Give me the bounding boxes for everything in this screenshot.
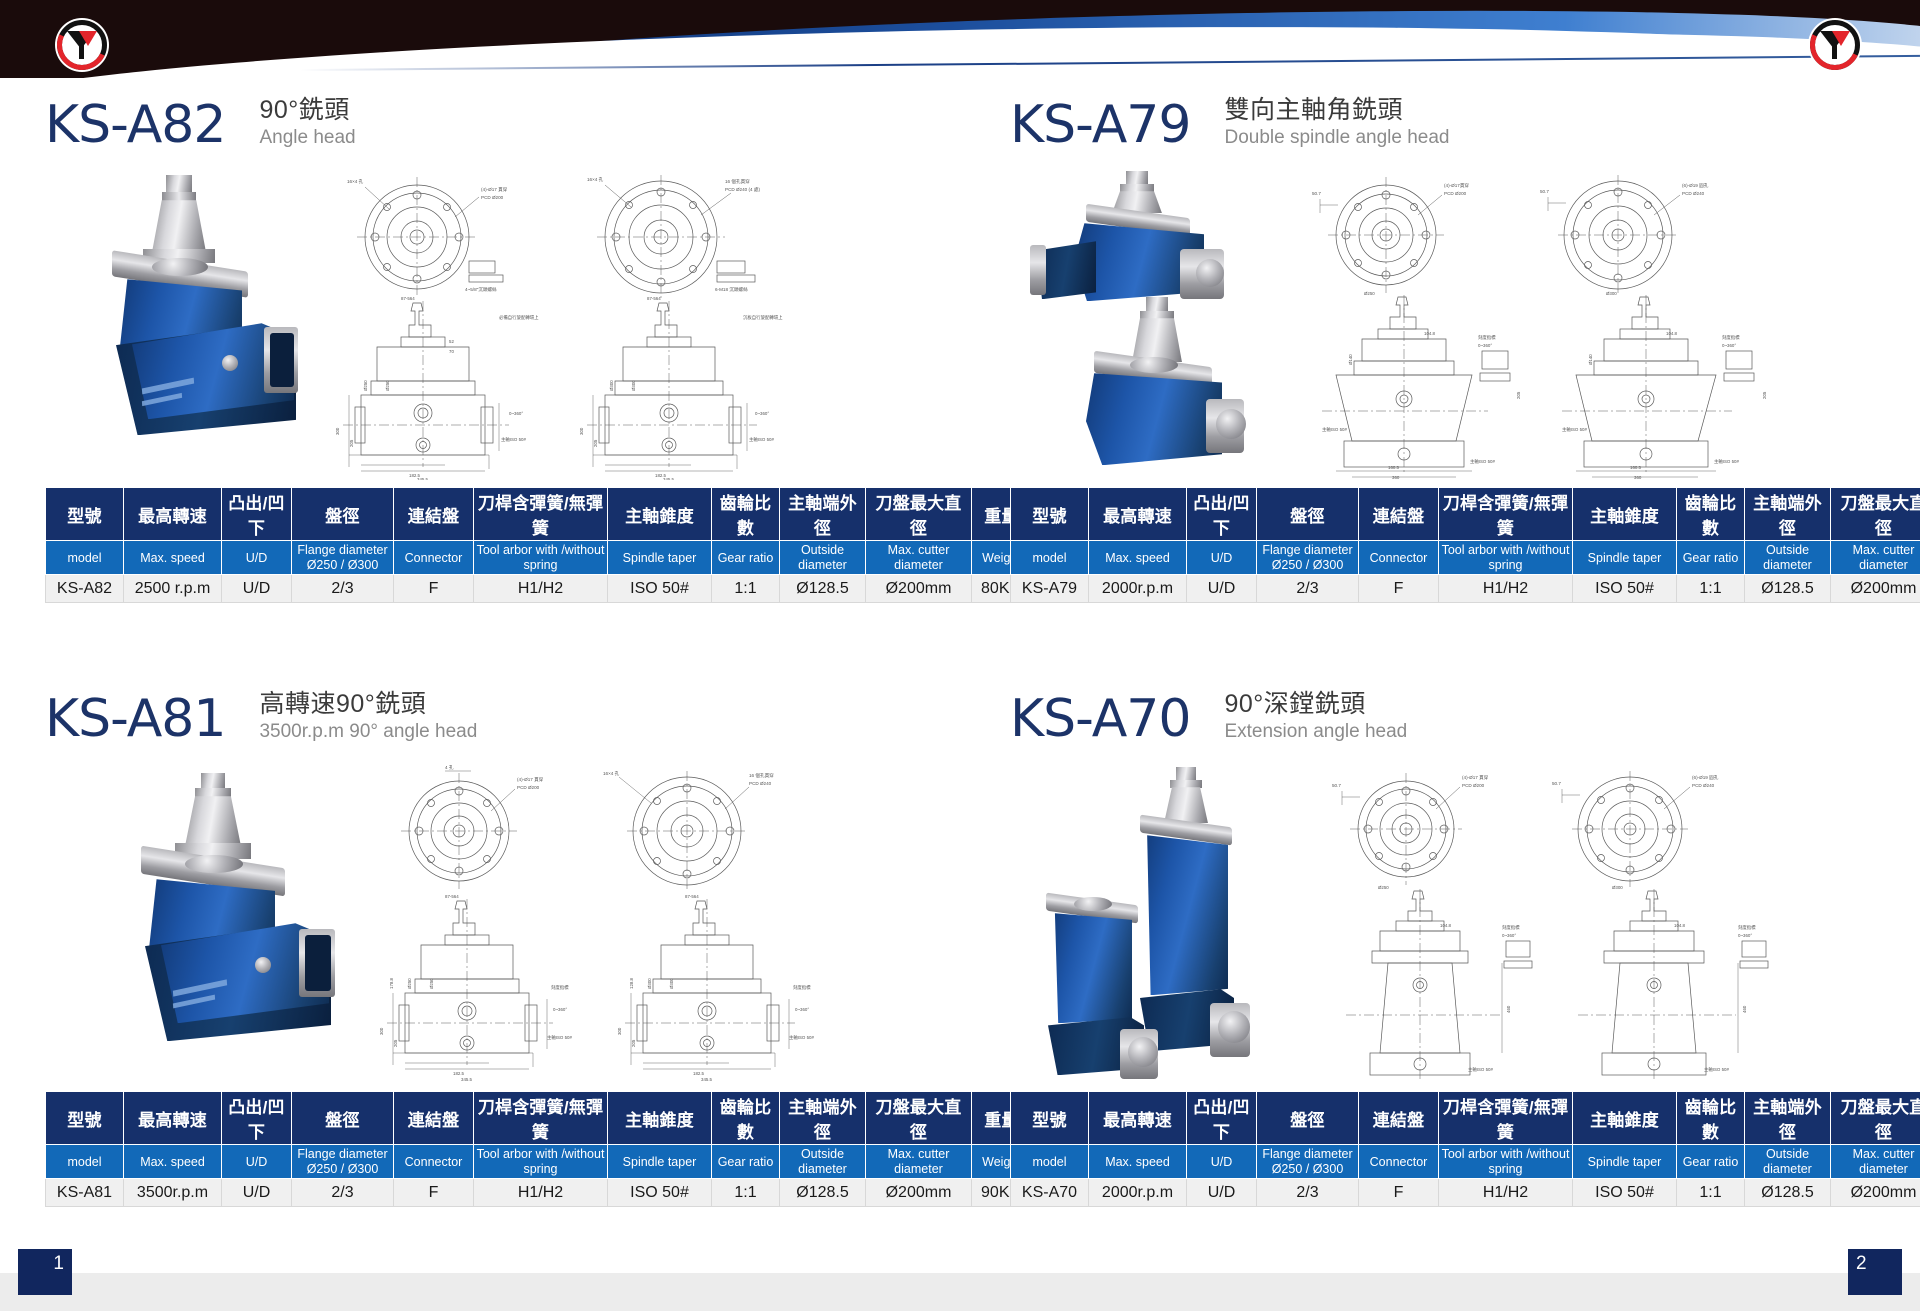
- th-en-max-cutter: Max. cutter diameter: [1831, 541, 1920, 575]
- svg-text:PCD Ø240: PCD Ø240: [749, 781, 772, 786]
- svg-text:50.7: 50.7: [1540, 189, 1549, 194]
- cell-connector: F: [394, 1179, 474, 1207]
- svg-text:205: 205: [349, 439, 354, 447]
- th-en-ud: U/D: [222, 1145, 292, 1179]
- svg-text:205: 205: [593, 439, 598, 447]
- page-footer: 1 2: [0, 1253, 1920, 1311]
- svg-text:182.5: 182.5: [693, 1071, 705, 1076]
- svg-text:沉板自行旋配轉環上: 沉板自行旋配轉環上: [743, 314, 783, 321]
- company-logo-right: [1808, 18, 1862, 72]
- product-name: 高轉速90°銑頭 3500r.p.m 90° angle head: [259, 690, 477, 745]
- svg-text:50.7: 50.7: [1332, 783, 1341, 788]
- svg-text:205: 205: [1762, 391, 1767, 399]
- th-cn-flange: 盤徑: [292, 488, 394, 541]
- product-title-row: KS-A79 雙向主軸角銑頭 Double spindle angle head: [1010, 96, 1910, 151]
- svg-text:460: 460: [1742, 1005, 1747, 1013]
- th-en-tool-arbor: Tool arbor with /without spring: [474, 1145, 608, 1179]
- spec-table-ks-a81: 型號 最高轉速 凸出/凹下 盤徑 連結盤 刀桿含彈簧/無彈簧 主軸錐度 齒輪比數…: [45, 1091, 1032, 1207]
- cell-max-cutter: Ø200mm: [866, 1179, 972, 1207]
- page-number-left: 1: [18, 1249, 72, 1295]
- svg-text:刻度指標: 刻度指標: [793, 984, 811, 991]
- drawing-side-view-right: Ø300 104.8 460 0~360° 主軸ISO 50# 刻度指標: [1540, 885, 1790, 1081]
- th-en-spindle-taper: Spindle taper: [608, 1145, 712, 1179]
- th-cn-max-cutter: 刀盤最大直徑: [1831, 488, 1920, 541]
- svg-text:300: 300: [379, 1027, 384, 1035]
- th-cn-max-speed: 最高轉速: [1089, 488, 1187, 541]
- svg-text:0~360°: 0~360°: [795, 1007, 809, 1012]
- th-cn-tool-arbor: 刀桿含彈簧/無彈簧: [1439, 1092, 1573, 1145]
- th-cn-max-cutter: 刀盤最大直徑: [866, 1092, 972, 1145]
- svg-text:(4)-Ø17 貫穿: (4)-Ø17 貫穿: [517, 776, 544, 783]
- product-photo: [1020, 171, 1280, 481]
- th-cn-outside-diameter: 主軸端外徑: [780, 1092, 866, 1145]
- svg-text:PCD Ø240: PCD Ø240: [1682, 191, 1705, 196]
- logo-stem-icon: [1832, 42, 1837, 59]
- page-number-right: 2: [1848, 1249, 1902, 1295]
- cell-model: KS-A81: [46, 1179, 124, 1207]
- cell-tool-arbor: H1/H2: [1439, 575, 1573, 603]
- th-cn-ud: 凸出/凹下: [1187, 1092, 1257, 1145]
- svg-text:104.8: 104.8: [1440, 923, 1452, 928]
- drawing-side-view-right: 87-564 Ø300 Ø300 128.8 300 205 182.5 345…: [593, 893, 843, 1083]
- cell-model: KS-A79: [1011, 575, 1089, 603]
- cell-flange: 2/3: [1257, 575, 1359, 603]
- product-media: 4 孔 (4)-Ø17 貫穿 PCD Ø200: [45, 759, 945, 1089]
- th-cn-max-speed: 最高轉速: [1089, 1092, 1187, 1145]
- product-name-cn: 雙向主軸角銑頭: [1224, 96, 1449, 126]
- th-cn-tool-arbor: 刀桿含彈簧/無彈簧: [1439, 488, 1573, 541]
- cell-outside-diameter: Ø128.5: [1745, 575, 1831, 603]
- product-block-ks-a81: KS-A81 高轉速90°銑頭 3500r.p.m 90° angle head: [45, 690, 945, 1207]
- drawing-side-view-left: 87-564 Ø250 Ø250 178.8 300 205 182.5 345…: [357, 893, 602, 1083]
- svg-text:178.8: 178.8: [389, 978, 394, 990]
- svg-text:300: 300: [335, 427, 340, 435]
- svg-text:必備自行旋配轉環上: 必備自行旋配轉環上: [499, 314, 539, 321]
- th-en-connector: Connector: [1359, 541, 1439, 575]
- product-photo: [1024, 767, 1274, 1085]
- cell-outside-diameter: Ø128.5: [1745, 1179, 1831, 1207]
- th-en-flange: Flange diameter Ø250 / Ø300: [292, 541, 394, 575]
- product-media: 16×4 孔 (4)-Ø17 貫穿 PCD Ø200 4~5/8"沉頭螺絲: [45, 165, 945, 483]
- svg-text:160.5: 160.5: [1388, 465, 1400, 470]
- th-en-flange: Flange diameter Ø250 / Ø300: [1257, 1145, 1359, 1179]
- svg-text:0~360°: 0~360°: [755, 411, 769, 416]
- th-cn-gear-ratio: 齒輪比數: [712, 1092, 780, 1145]
- svg-text:Ø250: Ø250: [407, 978, 412, 989]
- th-en-connector: Connector: [394, 1145, 474, 1179]
- product-photo: [105, 773, 345, 1085]
- th-en-ud: U/D: [1187, 541, 1257, 575]
- table-header-en-row: model Max. speed U/D Flange diameter Ø25…: [1011, 541, 1920, 575]
- svg-text:Ø300: Ø300: [609, 380, 614, 391]
- cell-ud: U/D: [222, 575, 292, 603]
- svg-text:Ø140: Ø140: [1588, 354, 1593, 365]
- svg-text:PCD Ø240 (4 處): PCD Ø240 (4 處): [725, 186, 760, 193]
- cell-gear-ratio: 1:1: [712, 575, 780, 603]
- svg-text:Ø140: Ø140: [1348, 354, 1353, 365]
- th-en-gear-ratio: Gear ratio: [1677, 541, 1745, 575]
- th-cn-flange: 盤徑: [1257, 1092, 1359, 1145]
- drawing-top-view-right: (6)-Ø19 圓孔 PCD Ø240 50.7: [1542, 763, 1767, 893]
- svg-text:主軸ISO 50#: 主軸ISO 50#: [547, 1034, 572, 1041]
- th-cn-connector: 連結盤: [1359, 1092, 1439, 1145]
- drawing-top-view-left: 4 孔 (4)-Ø17 貫穿 PCD Ø200: [375, 763, 590, 895]
- svg-text:Ø250: Ø250: [1364, 291, 1375, 296]
- th-cn-model: 型號: [46, 1092, 124, 1145]
- svg-text:70: 70: [449, 349, 454, 354]
- svg-text:50.7: 50.7: [1312, 191, 1321, 196]
- cell-tool-arbor: H1/H2: [1439, 1179, 1573, 1207]
- svg-text:345.5: 345.5: [663, 477, 675, 480]
- svg-text:0~360°: 0~360°: [553, 1007, 567, 1012]
- th-en-gear-ratio: Gear ratio: [1677, 1145, 1745, 1179]
- svg-text:345.5: 345.5: [461, 1077, 473, 1082]
- product-title-row: KS-A82 90°銑頭 Angle head: [45, 96, 945, 151]
- cell-ud: U/D: [1187, 575, 1257, 603]
- product-media: (4)-Ø17 貫穿 PCD Ø200 50.7: [1010, 759, 1910, 1089]
- svg-text:0~360°: 0~360°: [1478, 343, 1492, 348]
- svg-text:主軸ISO 50#: 主軸ISO 50#: [501, 436, 526, 443]
- svg-text:300: 300: [617, 1027, 622, 1035]
- th-cn-spindle-taper: 主軸錐度: [608, 488, 712, 541]
- svg-text:主軸ISO 50#: 主軸ISO 50#: [1704, 1066, 1729, 1073]
- product-name-en: 3500r.p.m 90° angle head: [259, 721, 477, 744]
- svg-text:Ø300: Ø300: [669, 978, 674, 989]
- svg-text:Ø250: Ø250: [385, 380, 390, 391]
- th-en-max-speed: Max. speed: [124, 541, 222, 575]
- svg-text:Ø300: Ø300: [1612, 885, 1623, 890]
- th-en-model: model: [1011, 1145, 1089, 1179]
- cell-tool-arbor: H1/H2: [474, 575, 608, 603]
- drawing-top-view-right: 16×4 孔 16 個孔貫穿 PCD Ø240: [597, 763, 822, 895]
- product-title-row: KS-A70 90°深鏜銑頭 Extension angle head: [1010, 690, 1910, 745]
- product-title-row: KS-A81 高轉速90°銑頭 3500r.p.m 90° angle head: [45, 690, 945, 745]
- table-row: KS-A82 2500 r.p.m U/D 2/3 F H1/H2 ISO 50…: [46, 575, 1032, 603]
- svg-text:87-564: 87-564: [685, 894, 699, 899]
- svg-text:主軸ISO 50#: 主軸ISO 50#: [1470, 458, 1495, 465]
- cell-spindle-taper: ISO 50#: [1573, 575, 1677, 603]
- th-cn-spindle-taper: 主軸錐度: [608, 1092, 712, 1145]
- svg-text:50.7: 50.7: [1552, 781, 1561, 786]
- table-header-cn-row: 型號 最高轉速 凸出/凹下 盤徑 連結盤 刀桿含彈簧/無彈簧 主軸錐度 齒輪比數…: [46, 488, 1032, 541]
- th-en-outside-diameter: Outside diameter: [1745, 541, 1831, 575]
- svg-text:(6)-Ø19 圓孔: (6)-Ø19 圓孔: [1692, 774, 1719, 781]
- cell-flange: 2/3: [292, 575, 394, 603]
- svg-text:104.8: 104.8: [1674, 923, 1686, 928]
- th-cn-gear-ratio: 齒輪比數: [1677, 488, 1745, 541]
- svg-text:205: 205: [1516, 391, 1521, 399]
- svg-text:Ø300: Ø300: [631, 380, 636, 391]
- svg-text:PCD Ø240: PCD Ø240: [1692, 783, 1715, 788]
- cell-connector: F: [1359, 575, 1439, 603]
- cell-outside-diameter: Ø128.5: [780, 1179, 866, 1207]
- cell-spindle-taper: ISO 50#: [608, 575, 712, 603]
- svg-text:104.8: 104.8: [1666, 331, 1678, 336]
- svg-text:主軸ISO 50#: 主軸ISO 50#: [1562, 426, 1587, 433]
- svg-text:128.8: 128.8: [629, 978, 634, 990]
- svg-text:16×4 孔: 16×4 孔: [347, 178, 364, 185]
- th-cn-model: 型號: [1011, 488, 1089, 541]
- svg-text:205: 205: [631, 1039, 636, 1047]
- th-en-flange: Flange diameter Ø250 / Ø300: [1257, 541, 1359, 575]
- table-header-en-row: model Max. speed U/D Flange diameter Ø25…: [1011, 1145, 1920, 1179]
- svg-text:4 孔: 4 孔: [445, 764, 454, 771]
- logo-stem-icon: [79, 42, 84, 59]
- th-en-outside-diameter: Outside diameter: [780, 541, 866, 575]
- product-code: KS-A70: [1010, 693, 1190, 745]
- page-header: [0, 0, 1920, 78]
- svg-text:(4)-Ø17 貫穿: (4)-Ø17 貫穿: [1462, 774, 1489, 781]
- th-cn-model: 型號: [46, 488, 124, 541]
- th-en-connector: Connector: [394, 541, 474, 575]
- th-en-outside-diameter: Outside diameter: [1745, 1145, 1831, 1179]
- drawing-top-view-left: 16×4 孔 (4)-Ø17 貫穿 PCD Ø200 4~5/8"沉頭螺絲: [329, 169, 554, 299]
- th-cn-gear-ratio: 齒輪比數: [1677, 1092, 1745, 1145]
- svg-text:PCD Ø200: PCD Ø200: [1444, 191, 1467, 196]
- svg-text:360: 360: [1634, 475, 1642, 480]
- svg-text:刻度指標: 刻度指標: [1478, 334, 1496, 341]
- table-row: KS-A79 2000r.p.m U/D 2/3 F H1/H2 ISO 50#…: [1011, 575, 1920, 603]
- product-block-ks-a82: KS-A82 90°銑頭 Angle head: [45, 96, 945, 603]
- th-cn-ud: 凸出/凹下: [222, 1092, 292, 1145]
- svg-text:205: 205: [393, 1039, 398, 1047]
- svg-text:刻度指標: 刻度指標: [1502, 924, 1520, 931]
- svg-text:16 個孔貫穿: 16 個孔貫穿: [749, 772, 774, 779]
- svg-text:刻度指標: 刻度指標: [1722, 334, 1740, 341]
- th-cn-spindle-taper: 主軸錐度: [1573, 1092, 1677, 1145]
- product-name: 90°銑頭 Angle head: [259, 96, 355, 151]
- svg-text:主軸ISO 50#: 主軸ISO 50#: [789, 1034, 814, 1041]
- spec-table-ks-a82: 型號 最高轉速 凸出/凹下 盤徑 連結盤 刀桿含彈簧/無彈簧 主軸錐度 齒輪比數…: [45, 487, 1032, 603]
- spec-table-ks-a70: 型號 最高轉速 凸出/凹下 盤徑 連結盤 刀桿含彈簧/無彈簧 主軸錐度 齒輪比數…: [1010, 1091, 1920, 1207]
- th-cn-max-cutter: 刀盤最大直徑: [866, 488, 972, 541]
- cell-max-cutter: Ø200mm: [1831, 575, 1920, 603]
- th-cn-connector: 連結盤: [394, 1092, 474, 1145]
- cell-spindle-taper: ISO 50#: [608, 1179, 712, 1207]
- cell-gear-ratio: 1:1: [712, 1179, 780, 1207]
- th-en-tool-arbor: Tool arbor with /without spring: [1439, 541, 1573, 575]
- th-cn-tool-arbor: 刀桿含彈簧/無彈簧: [474, 488, 608, 541]
- th-en-gear-ratio: Gear ratio: [712, 1145, 780, 1179]
- cell-gear-ratio: 1:1: [1677, 1179, 1745, 1207]
- th-en-spindle-taper: Spindle taper: [1573, 1145, 1677, 1179]
- th-en-max-speed: Max. speed: [124, 1145, 222, 1179]
- drawing-side-view-right: 87-564 Ø300 Ø300 300 205 182.5 345.5 0~3…: [555, 295, 805, 480]
- th-cn-max-speed: 最高轉速: [124, 488, 222, 541]
- th-cn-outside-diameter: 主軸端外徑: [780, 488, 866, 541]
- th-cn-flange: 盤徑: [292, 1092, 394, 1145]
- th-en-spindle-taper: Spindle taper: [608, 541, 712, 575]
- svg-text:0~360°: 0~360°: [1738, 933, 1752, 938]
- th-en-ud: U/D: [1187, 1145, 1257, 1179]
- svg-text:360: 360: [1392, 475, 1400, 480]
- th-en-outside-diameter: Outside diameter: [780, 1145, 866, 1179]
- drawing-top-view-right: (6)-Ø19 圓孔 PCD Ø240 50.7: [1530, 169, 1755, 295]
- th-cn-tool-arbor: 刀桿含彈簧/無彈簧: [474, 1092, 608, 1145]
- cell-tool-arbor: H1/H2: [474, 1179, 608, 1207]
- product-block-ks-a79: KS-A79 雙向主軸角銑頭 Double spindle angle head: [1010, 96, 1910, 603]
- th-cn-spindle-taper: 主軸錐度: [1573, 488, 1677, 541]
- cell-outside-diameter: Ø128.5: [780, 575, 866, 603]
- svg-text:345.5: 345.5: [417, 477, 429, 480]
- th-en-connector: Connector: [1359, 1145, 1439, 1179]
- product-name: 90°深鏜銑頭 Extension angle head: [1224, 690, 1407, 745]
- svg-text:Ø300: Ø300: [1606, 291, 1617, 296]
- svg-text:(6)-Ø19 圓孔: (6)-Ø19 圓孔: [1682, 182, 1709, 189]
- th-en-tool-arbor: Tool arbor with /without spring: [474, 541, 608, 575]
- svg-text:4~5/8"沉頭螺絲: 4~5/8"沉頭螺絲: [465, 286, 497, 293]
- svg-text:300: 300: [579, 427, 584, 435]
- svg-text:87-564: 87-564: [445, 894, 459, 899]
- cell-model: KS-A82: [46, 575, 124, 603]
- th-cn-connector: 連結盤: [394, 488, 474, 541]
- drawing-side-view-left: Ø250 104.8 460 0~360° 主軸ISO 50# 刻度指標: [1310, 885, 1555, 1081]
- svg-text:(4)-Ø17貫穿: (4)-Ø17貫穿: [1444, 182, 1469, 189]
- table-header-en-row: model Max. speed U/D Flange diameter Ø25…: [46, 541, 1032, 575]
- cell-max-speed: 3500r.p.m: [124, 1179, 222, 1207]
- table-header-cn-row: 型號 最高轉速 凸出/凹下 盤徑 連結盤 刀桿含彈簧/無彈簧 主軸錐度 齒輪比數…: [1011, 1092, 1920, 1145]
- product-name-en: Extension angle head: [1224, 721, 1407, 744]
- product-name-cn: 高轉速90°銑頭: [259, 690, 477, 720]
- drawing-top-view-left: (4)-Ø17 貫穿 PCD Ø200 50.7: [1322, 763, 1537, 893]
- th-cn-ud: 凸出/凹下: [1187, 488, 1257, 541]
- cell-flange: 2/3: [292, 1179, 394, 1207]
- svg-text:(4)-Ø17 貫穿: (4)-Ø17 貫穿: [481, 186, 508, 193]
- th-en-model: model: [46, 541, 124, 575]
- th-en-max-cutter: Max. cutter diameter: [866, 1145, 972, 1179]
- th-en-max-speed: Max. speed: [1089, 1145, 1187, 1179]
- cell-ud: U/D: [222, 1179, 292, 1207]
- drawing-top-view-right: 16×4 孔 16 個孔貫穿 PCD Ø240 (4 處) 6-M18 沉頭螺絲: [565, 169, 800, 299]
- th-cn-outside-diameter: 主軸端外徑: [1745, 488, 1831, 541]
- product-photo: [80, 175, 310, 475]
- th-en-max-cutter: Max. cutter diameter: [866, 541, 972, 575]
- th-cn-outside-diameter: 主軸端外徑: [1745, 1092, 1831, 1145]
- svg-text:16×4 孔: 16×4 孔: [603, 770, 620, 777]
- th-cn-gear-ratio: 齒輪比數: [712, 488, 780, 541]
- th-cn-model: 型號: [1011, 1092, 1089, 1145]
- product-name-en: Double spindle angle head: [1224, 127, 1449, 150]
- svg-text:主軸ISO 50#: 主軸ISO 50#: [1468, 1066, 1493, 1073]
- footer-bar: [0, 1273, 1920, 1311]
- svg-text:Ø250: Ø250: [363, 380, 368, 391]
- drawing-side-view-left: 87-564 52 70 Ø250 Ø250 300 205 182.5 345…: [313, 295, 563, 480]
- svg-text:160.5: 160.5: [1630, 465, 1642, 470]
- table-row: KS-A70 2000r.p.m U/D 2/3 F H1/H2 ISO 50#…: [1011, 1179, 1920, 1207]
- th-cn-flange: 盤徑: [1257, 488, 1359, 541]
- svg-text:Ø300: Ø300: [647, 978, 652, 989]
- cell-max-speed: 2000r.p.m: [1089, 1179, 1187, 1207]
- svg-text:刻度指標: 刻度指標: [1738, 924, 1756, 931]
- drawing-side-view-left: Ø250 104.8 Ø140 205 360 160.5 0~360° 主軸I…: [1292, 291, 1532, 481]
- svg-text:主軸ISO 50#: 主軸ISO 50#: [1322, 426, 1347, 433]
- table-header-cn-row: 型號 最高轉速 凸出/凹下 盤徑 連結盤 刀桿含彈簧/無彈簧 主軸錐度 齒輪比數…: [1011, 488, 1920, 541]
- cell-gear-ratio: 1:1: [1677, 575, 1745, 603]
- svg-text:345.5: 345.5: [701, 1077, 713, 1082]
- th-cn-connector: 連結盤: [1359, 488, 1439, 541]
- th-en-max-speed: Max. speed: [1089, 541, 1187, 575]
- svg-text:主軸ISO 50#: 主軸ISO 50#: [749, 436, 774, 443]
- th-cn-max-speed: 最高轉速: [124, 1092, 222, 1145]
- th-en-gear-ratio: Gear ratio: [712, 541, 780, 575]
- drawing-top-view-left: (4)-Ø17貫穿 PCD Ø200 50.7: [1302, 169, 1517, 295]
- drawing-side-view-right: Ø300 104.8 Ø140 205 360 160.5 0~360° 主軸I…: [1530, 291, 1780, 481]
- svg-text:182.5: 182.5: [453, 1071, 465, 1076]
- svg-text:主軸ISO 50#: 主軸ISO 50#: [1714, 458, 1739, 465]
- th-en-ud: U/D: [222, 541, 292, 575]
- svg-text:104.8: 104.8: [1424, 331, 1436, 336]
- svg-text:16×4 孔: 16×4 孔: [587, 176, 604, 183]
- th-cn-ud: 凸出/凹下: [222, 488, 292, 541]
- svg-text:PCD Ø200: PCD Ø200: [517, 785, 540, 790]
- product-block-ks-a70: KS-A70 90°深鏜銑頭 Extension angle head: [1010, 690, 1910, 1207]
- product-name-cn: 90°銑頭: [259, 96, 355, 126]
- product-media: (4)-Ø17貫穿 PCD Ø200 50.7: [1010, 165, 1910, 483]
- table-header-cn-row: 型號 最高轉速 凸出/凹下 盤徑 連結盤 刀桿含彈簧/無彈簧 主軸錐度 齒輪比數…: [46, 1092, 1032, 1145]
- svg-text:52: 52: [449, 339, 454, 344]
- product-code: KS-A82: [45, 99, 225, 151]
- product-code: KS-A79: [1010, 99, 1190, 151]
- table-header-en-row: model Max. speed U/D Flange diameter Ø25…: [46, 1145, 1032, 1179]
- svg-text:0~360°: 0~360°: [509, 411, 523, 416]
- cell-flange: 2/3: [1257, 1179, 1359, 1207]
- cell-max-speed: 2500 r.p.m: [124, 575, 222, 603]
- svg-text:PCD Ø200: PCD Ø200: [481, 195, 504, 200]
- svg-text:Ø250: Ø250: [429, 978, 434, 989]
- th-en-tool-arbor: Tool arbor with /without spring: [1439, 1145, 1573, 1179]
- th-en-max-cutter: Max. cutter diameter: [1831, 1145, 1920, 1179]
- svg-text:刻度指標: 刻度指標: [551, 984, 569, 991]
- svg-text:6-M18 沉頭螺絲: 6-M18 沉頭螺絲: [715, 286, 748, 293]
- company-logo-left: [55, 18, 109, 72]
- svg-text:0~360°: 0~360°: [1722, 343, 1736, 348]
- product-name-cn: 90°深鏜銑頭: [1224, 690, 1407, 720]
- spec-table-ks-a79: 型號 最高轉速 凸出/凹下 盤徑 連結盤 刀桿含彈簧/無彈簧 主軸錐度 齒輪比數…: [1010, 487, 1920, 603]
- svg-text:16 個孔貫穿: 16 個孔貫穿: [725, 178, 750, 185]
- catalog-page: KS-A82 90°銑頭 Angle head: [0, 0, 1920, 1311]
- cell-max-cutter: Ø200mm: [1831, 1179, 1920, 1207]
- product-name-en: Angle head: [259, 127, 355, 150]
- th-en-flange: Flange diameter Ø250 / Ø300: [292, 1145, 394, 1179]
- th-en-model: model: [46, 1145, 124, 1179]
- th-en-model: model: [1011, 541, 1089, 575]
- cell-max-speed: 2000r.p.m: [1089, 575, 1187, 603]
- cell-max-cutter: Ø200mm: [866, 575, 972, 603]
- svg-text:0~360°: 0~360°: [1502, 933, 1516, 938]
- product-name: 雙向主軸角銑頭 Double spindle angle head: [1224, 96, 1449, 151]
- svg-text:PCD Ø200: PCD Ø200: [1462, 783, 1485, 788]
- svg-text:87-564: 87-564: [647, 296, 661, 301]
- svg-text:87-564: 87-564: [401, 296, 415, 301]
- product-code: KS-A81: [45, 693, 225, 745]
- svg-text:460: 460: [1506, 1005, 1511, 1013]
- cell-connector: F: [1359, 1179, 1439, 1207]
- cell-connector: F: [394, 575, 474, 603]
- svg-text:Ø250: Ø250: [1378, 885, 1389, 890]
- cell-model: KS-A70: [1011, 1179, 1089, 1207]
- cell-ud: U/D: [1187, 1179, 1257, 1207]
- table-row: KS-A81 3500r.p.m U/D 2/3 F H1/H2 ISO 50#…: [46, 1179, 1032, 1207]
- th-cn-max-cutter: 刀盤最大直徑: [1831, 1092, 1920, 1145]
- cell-spindle-taper: ISO 50#: [1573, 1179, 1677, 1207]
- th-en-spindle-taper: Spindle taper: [1573, 541, 1677, 575]
